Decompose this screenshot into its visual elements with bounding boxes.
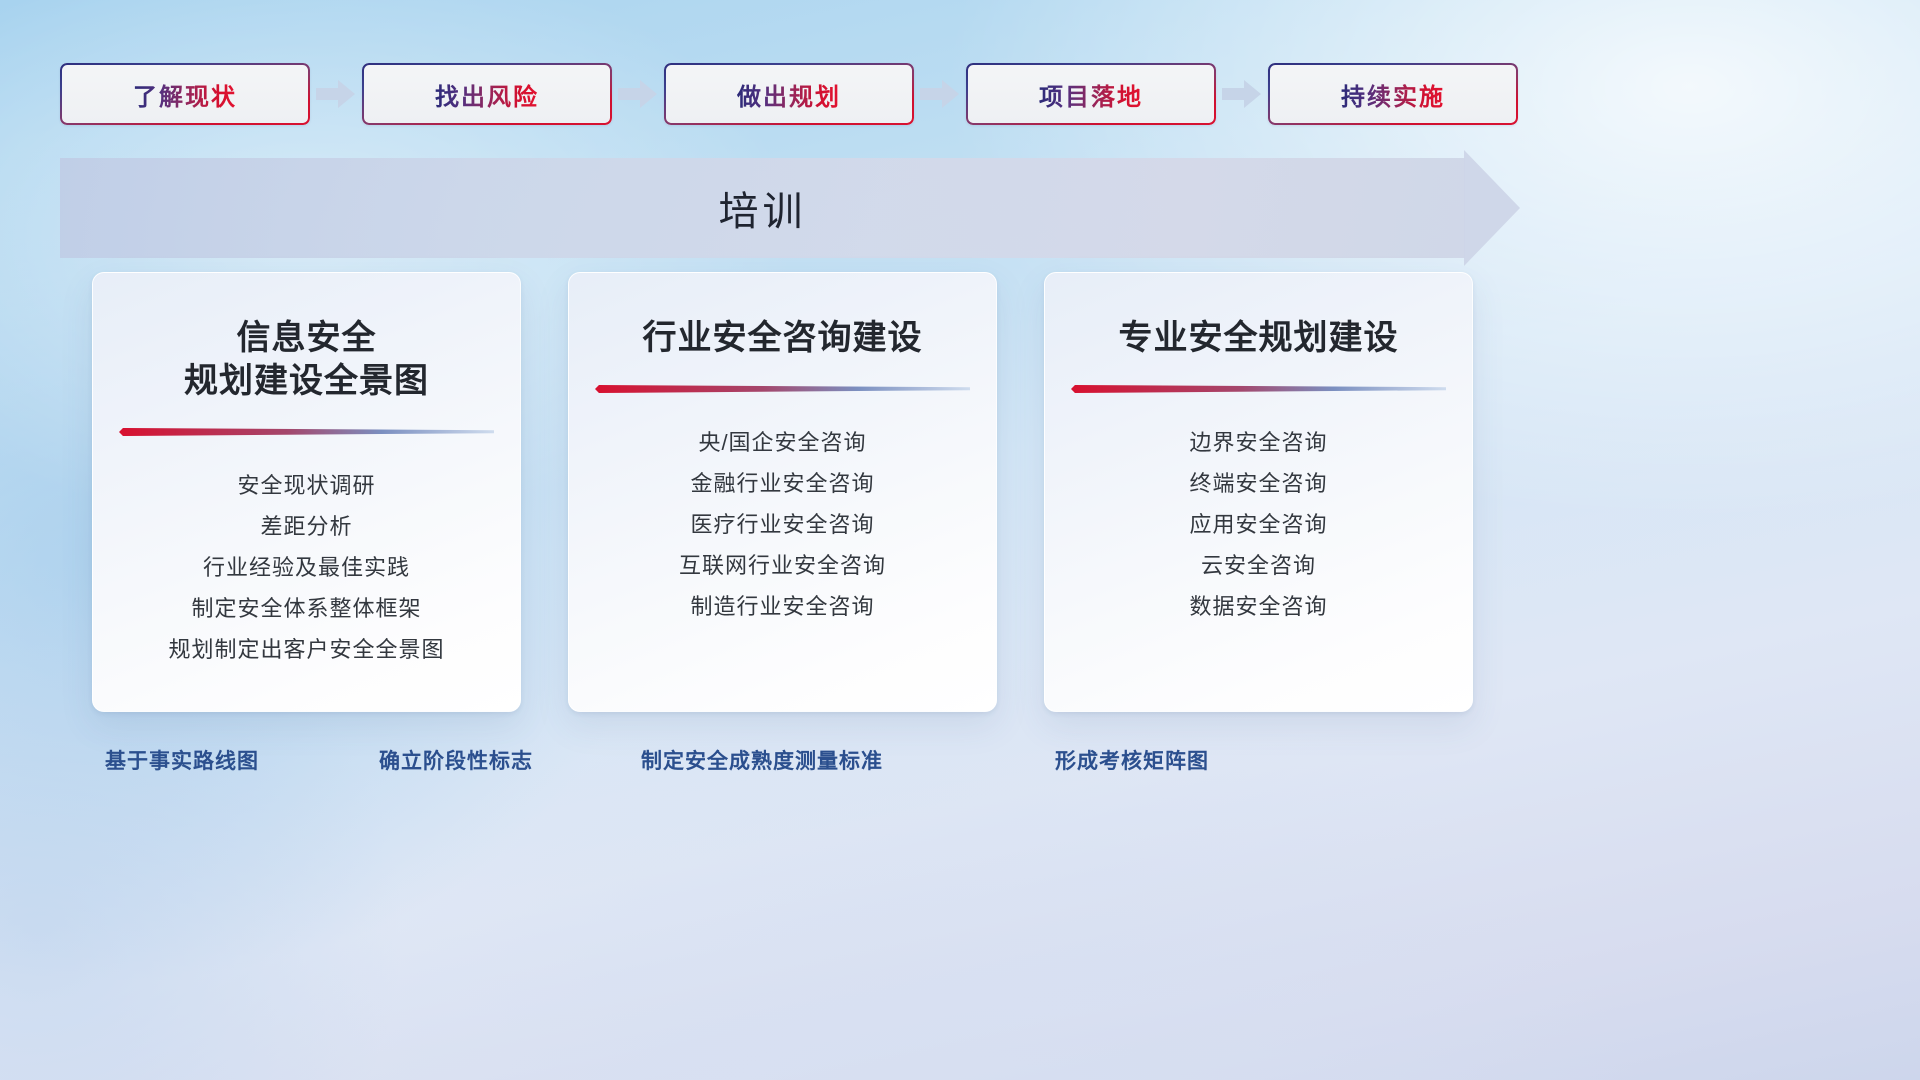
card-divider-rule (119, 425, 494, 439)
card-list-item: 边界安全咨询 (1071, 422, 1446, 463)
card-list-item: 制定安全体系整体框架 (119, 588, 494, 629)
caption-0: 基于事实路线图 (105, 745, 259, 775)
card-list-item: 安全现状调研 (119, 465, 494, 506)
process-step-flow: 了解现状 找出风险 做出规划 项目落地 (60, 63, 1515, 125)
card-title-line-2: 规划建设全景图 (184, 360, 429, 403)
arrow-right-icon (1216, 63, 1268, 125)
process-step-0[interactable]: 了解现状 (60, 63, 310, 125)
card-item-list: 边界安全咨询 终端安全咨询 应用安全咨询 云安全咨询 数据安全咨询 (1071, 422, 1446, 627)
card-title-line-1: 行业安全咨询建设 (643, 317, 923, 360)
card-list-item: 金融行业安全咨询 (595, 463, 970, 504)
caption-row: 基于事实路线图 确立阶段性标志 制定安全成熟度测量标准 形成考核矩阵图 (0, 745, 1920, 785)
card-list-item: 终端安全咨询 (1071, 463, 1446, 504)
process-step-4[interactable]: 持续实施 (1268, 63, 1518, 125)
card-industry-security-consulting[interactable]: 行业安全咨询建设 央/国企安全咨询 金 (568, 272, 997, 712)
caption-3: 形成考核矩阵图 (1055, 745, 1209, 775)
card-title-line-1: 专业安全规划建设 (1119, 317, 1399, 360)
arrow-right-icon (612, 63, 664, 125)
process-step-2[interactable]: 做出规划 (664, 63, 914, 125)
banner-arrow-head-icon (1464, 150, 1520, 266)
card-list-item: 差距分析 (119, 506, 494, 547)
card-information-security-blueprint[interactable]: 信息安全 规划建设全景图 安全现状调研 (92, 272, 521, 712)
card-title-line-1: 信息安全 (184, 317, 429, 360)
card-list-item: 行业经验及最佳实践 (119, 547, 494, 588)
process-step-label: 持续实施 (1341, 77, 1445, 112)
training-banner: 培训 (60, 158, 1520, 258)
card-list-item: 制造行业安全咨询 (595, 586, 970, 627)
card-list-item: 应用安全咨询 (1071, 504, 1446, 545)
process-step-3[interactable]: 项目落地 (966, 63, 1216, 125)
banner-title: 培训 (60, 158, 1465, 258)
arrow-right-icon (310, 63, 362, 125)
card-list-item: 互联网行业安全咨询 (595, 545, 970, 586)
card-divider-rule (1071, 382, 1446, 396)
process-step-label: 做出规划 (737, 77, 841, 112)
card-title: 专业安全规划建设 (1119, 317, 1399, 360)
process-step-label: 了解现状 (133, 77, 237, 112)
process-step-1[interactable]: 找出风险 (362, 63, 612, 125)
card-list-item: 央/国企安全咨询 (595, 422, 970, 463)
caption-1: 确立阶段性标志 (379, 745, 533, 775)
card-row: 信息安全 规划建设全景图 安全现状调研 (92, 272, 1532, 712)
card-list-item: 云安全咨询 (1071, 545, 1446, 586)
process-step-label: 找出风险 (435, 77, 539, 112)
slide-canvas: 了解现状 找出风险 做出规划 项目落地 (0, 0, 1920, 1080)
process-step-label: 项目落地 (1039, 77, 1143, 112)
card-item-list: 央/国企安全咨询 金融行业安全咨询 医疗行业安全咨询 互联网行业安全咨询 制造行… (595, 422, 970, 627)
arrow-right-icon (914, 63, 966, 125)
card-list-item: 医疗行业安全咨询 (595, 504, 970, 545)
card-list-item: 数据安全咨询 (1071, 586, 1446, 627)
card-list-item: 规划制定出客户安全全景图 (119, 629, 494, 670)
card-item-list: 安全现状调研 差距分析 行业经验及最佳实践 制定安全体系整体框架 规划制定出客户… (119, 465, 494, 670)
card-title: 行业安全咨询建设 (643, 317, 923, 360)
caption-2: 制定安全成熟度测量标准 (641, 745, 883, 775)
card-divider-rule (595, 382, 970, 396)
card-title: 信息安全 规划建设全景图 (184, 317, 429, 403)
card-professional-security-planning[interactable]: 专业安全规划建设 边界安全咨询 终端安 (1044, 272, 1473, 712)
